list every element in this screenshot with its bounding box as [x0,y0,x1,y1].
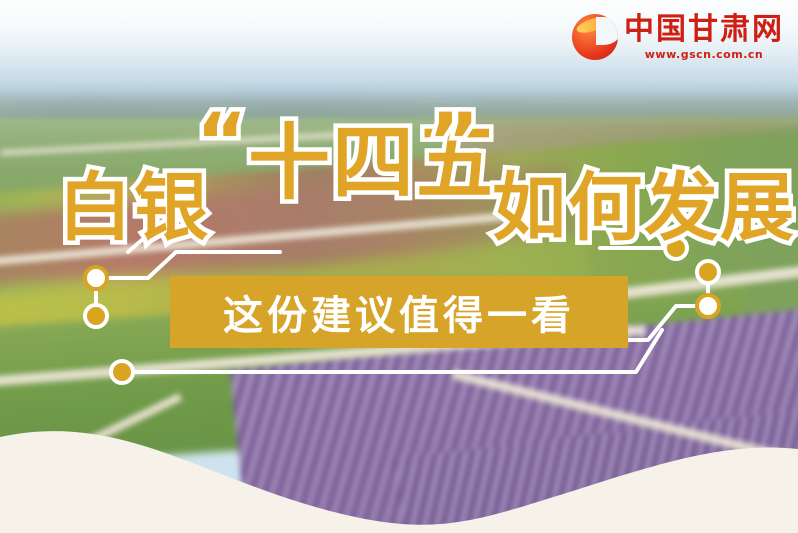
logo-text-block: 中国甘肃网 www.gscn.com.cn [624,15,784,60]
logo-site-url: www.gscn.com.cn [624,49,784,60]
subtitle-banner: 这份建议值得一看 [170,276,628,348]
logo-site-name: 中国甘肃网 [624,15,784,45]
bottom-wave-shape [0,403,798,533]
headline-quote-open: “ [196,98,249,188]
headline-quote-close: ” [428,98,481,188]
headline-city: 白银 [58,148,210,255]
poster-root: 白银 “ 十四五 ” 如何发展 这份建议值得一看 中国甘肃网 www.gscn.… [0,0,798,533]
headline-question: 如何发展 [492,148,796,255]
gansu-net-swirl-icon [572,14,618,60]
subtitle-banner-text: 这份建议值得一看 [223,283,575,341]
site-logo[interactable]: 中国甘肃网 www.gscn.com.cn [572,14,784,60]
